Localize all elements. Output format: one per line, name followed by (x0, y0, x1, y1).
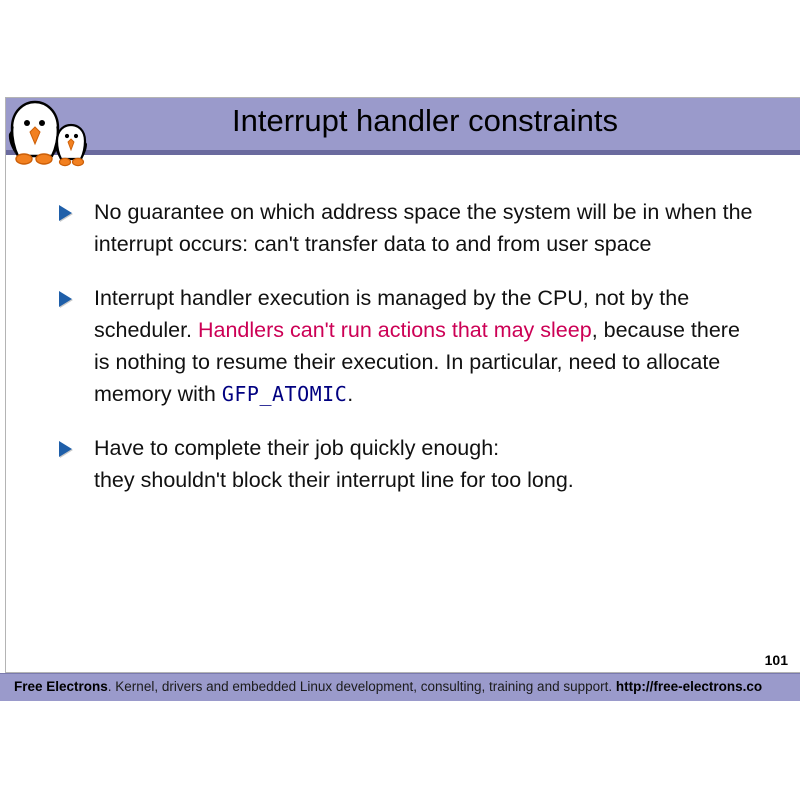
bullet-item: Have to complete their job quickly enoug… (56, 432, 756, 496)
footer-text: Free Electrons. Kernel, drivers and embe… (14, 679, 762, 694)
bullet-item: No guarantee on which address space the … (56, 196, 756, 260)
slide-root: Interrupt handler constraints No guarant… (0, 0, 800, 800)
triangle-bullet-icon (59, 291, 72, 307)
page-number: 101 (765, 652, 788, 668)
bullet-text-line: Have to complete their job quickly enoug… (94, 436, 499, 460)
footer-description: . Kernel, drivers and embedded Linux dev… (108, 679, 616, 694)
slide-body: No guarantee on which address space the … (56, 196, 756, 496)
triangle-bullet-icon (59, 441, 72, 457)
bullet-text-highlight: Handlers can't run actions that may slee… (198, 318, 592, 342)
footer-url[interactable]: http://free-electrons.co (616, 679, 762, 694)
triangle-bullet-icon (59, 205, 72, 221)
bullet-item: Interrupt handler execution is managed b… (56, 282, 756, 410)
bullet-text-line: they shouldn't block their interrupt lin… (94, 468, 574, 492)
code-literal: GFP_ATOMIC (222, 382, 347, 406)
slide-title: Interrupt handler constraints (60, 103, 790, 139)
footer-band: Free Electrons. Kernel, drivers and embe… (0, 673, 800, 701)
bullet-text-segment: . (347, 382, 353, 406)
bullet-text: No guarantee on which address space the … (94, 200, 753, 256)
slide-header-underline (6, 150, 800, 155)
footer-brand: Free Electrons (14, 679, 108, 694)
